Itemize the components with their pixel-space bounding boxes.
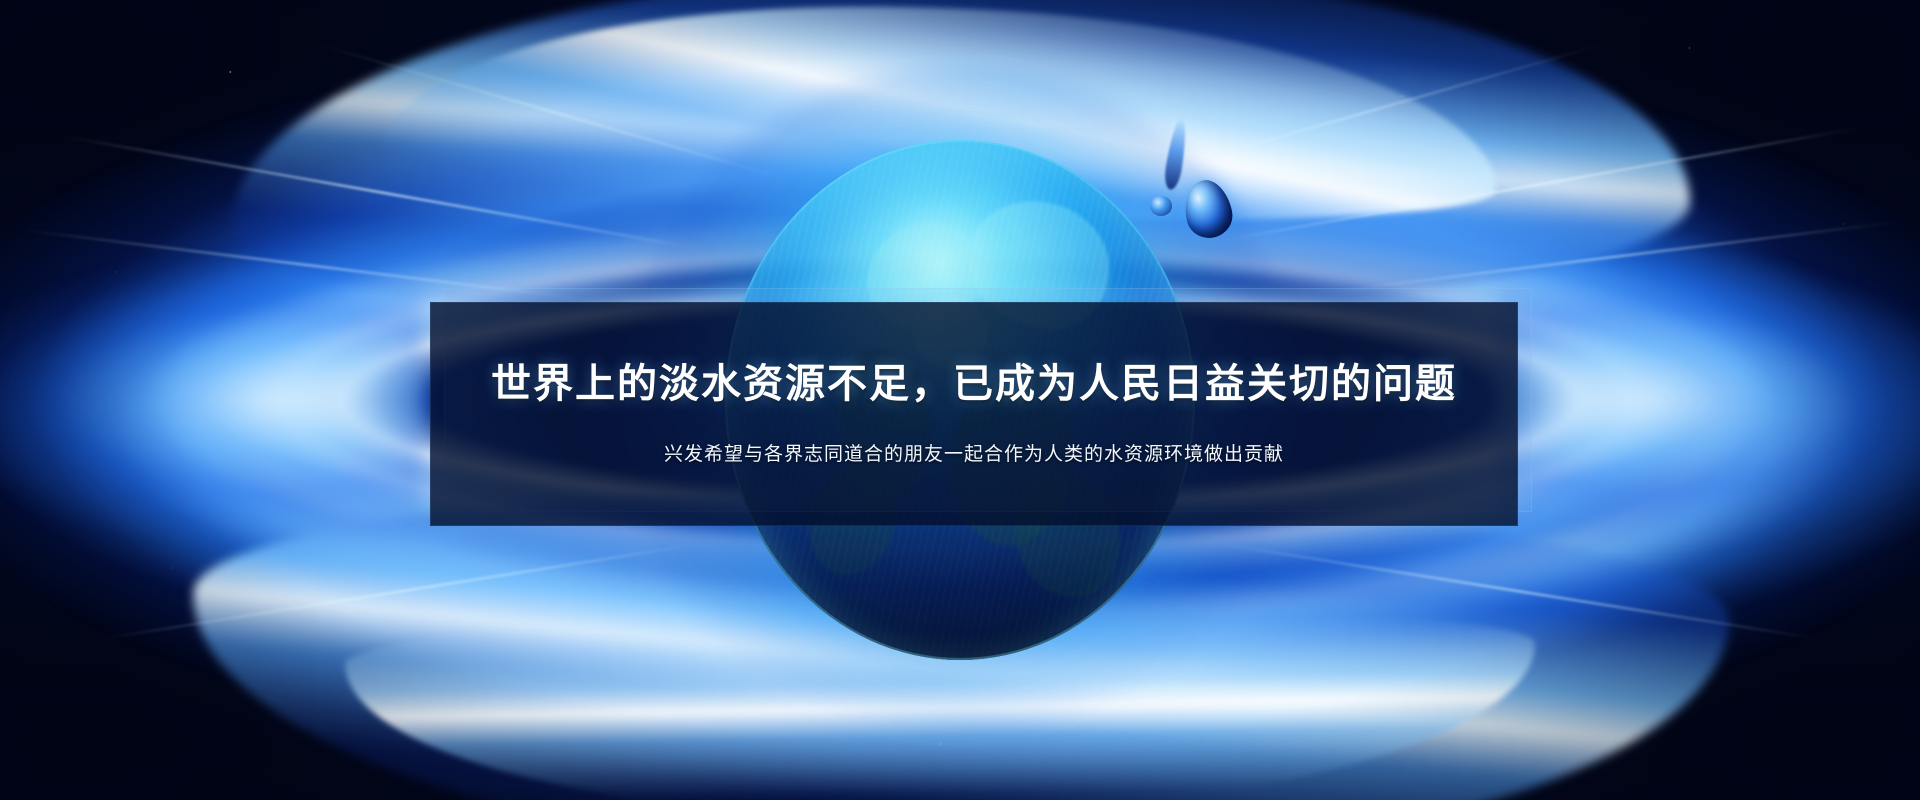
banner-title: 世界上的淡水资源不足，已成为人民日益关切的问题 [491, 360, 1457, 408]
decorative-offset-frame: 世界上的淡水资源不足，已成为人民日益关切的问题 兴发希望与各界志同道合的朋友一起… [430, 288, 1532, 526]
banner-subtitle: 兴发希望与各界志同道合的朋友一起合作为人类的水资源环境做出贡献 [664, 442, 1284, 469]
water-droplet-bead [1150, 196, 1172, 216]
banner-hero: 世界上的淡水资源不足，已成为人民日益关切的问题 兴发希望与各界志同道合的朋友一起… [0, 0, 1920, 800]
text-panel: 世界上的淡水资源不足，已成为人民日益关切的问题 兴发希望与各界志同道合的朋友一起… [430, 302, 1518, 526]
water-splash-right [1498, 240, 1920, 560]
water-splash-left [0, 240, 422, 560]
